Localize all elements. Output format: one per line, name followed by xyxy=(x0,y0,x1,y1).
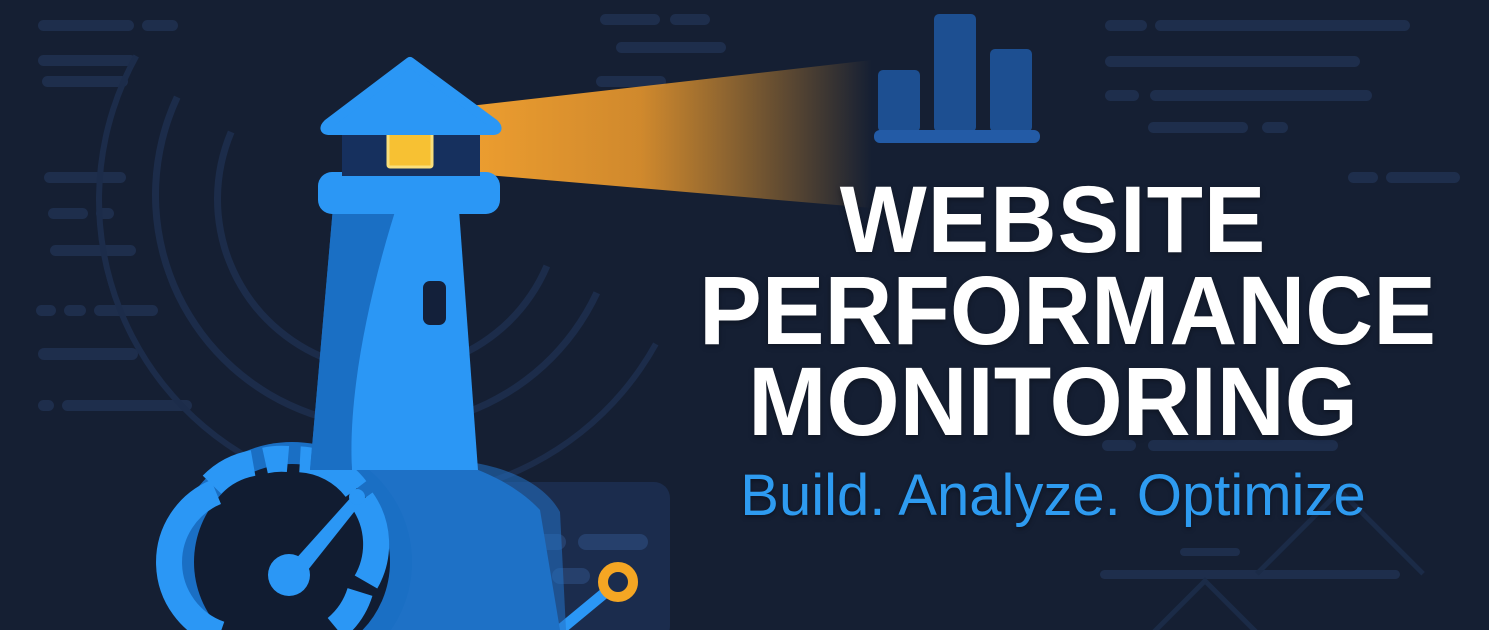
gauge-needle-tip xyxy=(349,489,365,505)
headline-line-1: WEBSITE xyxy=(699,176,1407,265)
bar-chart-bar-1 xyxy=(878,70,920,132)
decor-code-bar xyxy=(1105,56,1360,67)
banner-root: WEBSITE PERFORMANCE MONITORING Build. An… xyxy=(0,0,1489,630)
headline-line-3: MONITORING xyxy=(699,356,1407,447)
lighthouse-tower xyxy=(310,196,478,470)
lighthouse-gallery-band xyxy=(318,172,500,214)
subtitle-tagline: Build. Analyze. Optimize xyxy=(688,462,1418,529)
text-block: WEBSITE PERFORMANCE MONITORING Build. An… xyxy=(688,176,1418,529)
decor-code-bar xyxy=(1262,122,1288,133)
headline-line-2: PERFORMANCE xyxy=(699,265,1407,356)
decor-code-bar xyxy=(1105,20,1147,31)
decor-code-bar xyxy=(1148,122,1248,133)
lighthouse-illustration xyxy=(0,0,720,630)
bar-chart-bar-3 xyxy=(990,49,1032,132)
decor-growth-arrow xyxy=(1141,577,1268,630)
bar-chart-baseline xyxy=(874,130,1040,143)
decor-code-bar xyxy=(1105,90,1139,101)
decor-code-bar xyxy=(1180,548,1240,556)
gauge-segment xyxy=(265,459,288,461)
gauge-needle-hub xyxy=(268,554,310,596)
lighthouse-roof xyxy=(325,62,496,130)
gauge-segment xyxy=(362,500,376,582)
decor-code-bar xyxy=(1155,20,1410,31)
bar-chart-icon xyxy=(874,8,1074,148)
sparkline-marker-accent xyxy=(603,567,633,597)
tower-window xyxy=(423,281,446,325)
bar-chart-bar-2 xyxy=(934,14,976,132)
decor-code-bar xyxy=(1150,90,1372,101)
dashboard-placeholder-bar xyxy=(578,534,648,550)
